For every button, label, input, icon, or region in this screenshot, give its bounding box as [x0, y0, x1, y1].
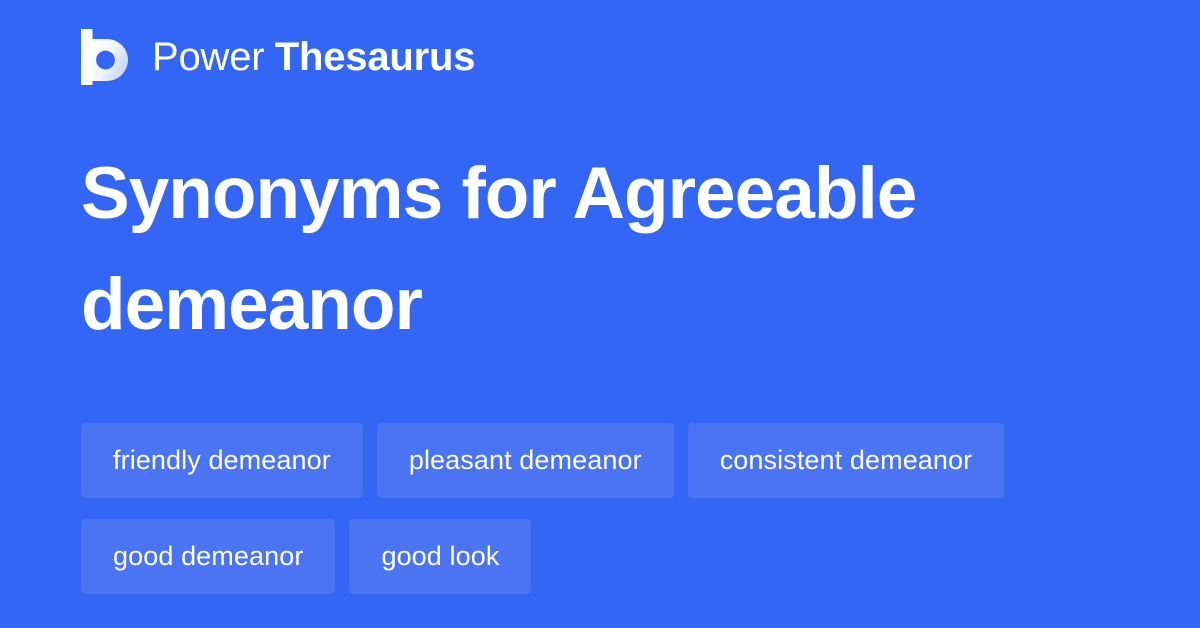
brand-header[interactable]: Power Thesaurus: [81, 28, 475, 86]
brand-wordmark: Power Thesaurus: [152, 37, 475, 77]
brand-name-light: Power: [152, 37, 264, 77]
synonym-chip[interactable]: consistent demeanor: [688, 423, 1005, 498]
page-title: Synonyms for Agreeable demeanor: [81, 139, 1081, 361]
synonym-chip[interactable]: good look: [349, 519, 531, 594]
synonym-chip[interactable]: good demeanor: [81, 519, 335, 594]
page-title-line-2: demeanor: [81, 250, 1081, 361]
page-title-line-1: Synonyms for Agreeable: [81, 139, 1081, 250]
share-card-canvas: Power Thesaurus Synonyms for Agreeable d…: [0, 0, 1200, 628]
brand-name-bold: Thesaurus: [275, 37, 476, 77]
synonym-chip[interactable]: friendly demeanor: [81, 423, 363, 498]
power-thesaurus-b-logo-icon: [81, 29, 131, 85]
synonym-chip-list: friendly demeanor pleasant demeanor cons…: [81, 423, 1121, 594]
synonym-chip[interactable]: pleasant demeanor: [377, 423, 674, 498]
